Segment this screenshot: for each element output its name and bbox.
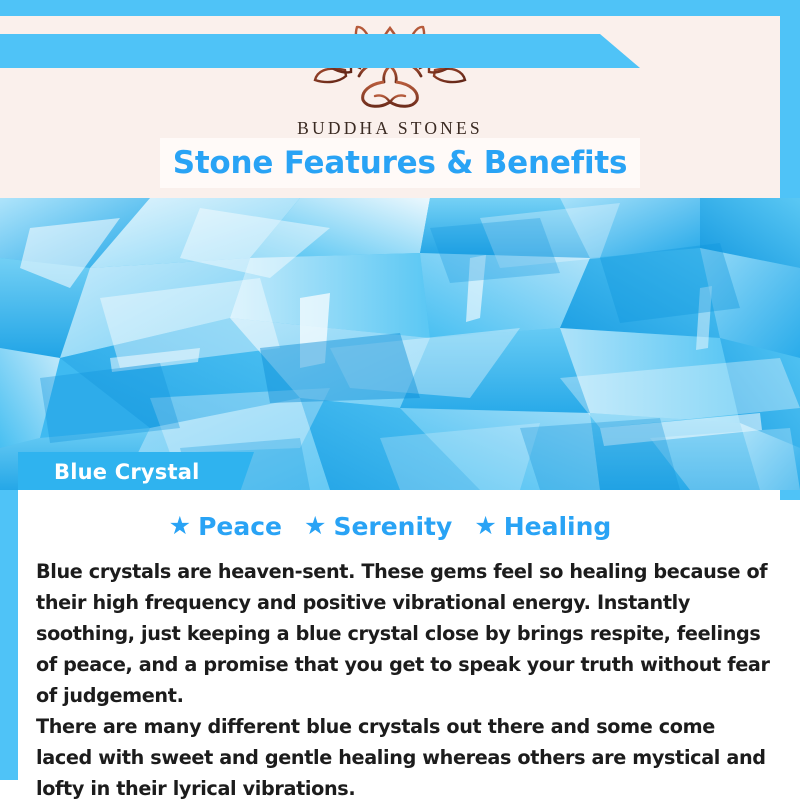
feature-label: Healing [504, 512, 612, 541]
feature-item: ★ Healing [474, 512, 611, 541]
hero-crystal-image [0, 198, 800, 490]
paragraph-two: There are many different blue crystals o… [36, 711, 774, 800]
paragraph-one: Blue crystals are heaven-sent. These gem… [36, 556, 774, 711]
title-banner: Stone Features & Benefits [160, 138, 640, 188]
star-icon: ★ [304, 514, 326, 539]
feature-item: ★ Peace [169, 512, 282, 541]
hero-label-text: Blue Crystal [18, 460, 199, 484]
top-accent-band [0, 0, 800, 16]
features-row: ★ Peace ★ Serenity ★ Healing [0, 512, 780, 541]
feature-label: Serenity [333, 512, 452, 541]
star-icon: ★ [474, 514, 496, 539]
description-block: Blue crystals are heaven-sent. These gem… [36, 556, 774, 800]
star-icon: ★ [169, 514, 191, 539]
brand-name: BUDDHA STONES [297, 118, 483, 139]
bottom-accent-band [0, 34, 640, 68]
page-title: Stone Features & Benefits [173, 145, 628, 181]
infographic-page: BUDDHA STONES Stone Features & Benefits [0, 0, 800, 800]
feature-label: Peace [198, 512, 282, 541]
hero-label-banner: Blue Crystal [18, 452, 254, 492]
feature-item: ★ Serenity [304, 512, 452, 541]
